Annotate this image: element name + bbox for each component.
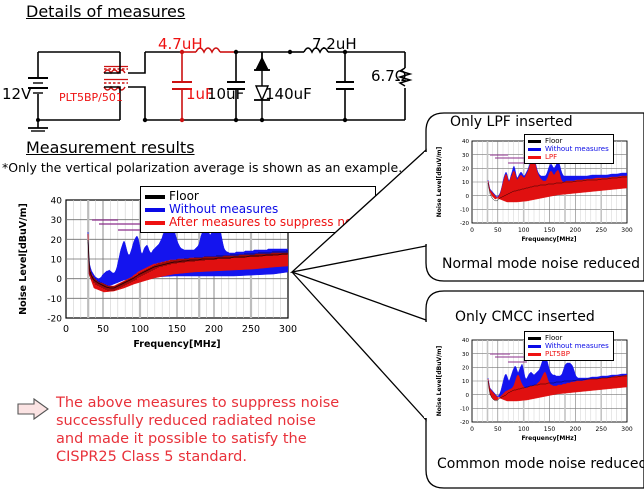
cmcc-chart-ylabel: Noise Level[dBuV/m] (436, 345, 443, 416)
conclusion-text: The above measures to suppress noise suc… (56, 394, 346, 466)
legend-label-cmcc-pltsbp: PLT5BP (545, 350, 570, 358)
svg-text:-20: -20 (460, 221, 469, 227)
svg-text:250: 250 (595, 426, 607, 433)
svg-text:20: 20 (462, 167, 469, 173)
svg-text:50: 50 (494, 426, 502, 433)
svg-text:10: 10 (462, 180, 469, 186)
legend-swatch-lpf-without-measures (528, 148, 541, 151)
svg-text:200: 200 (570, 426, 582, 433)
svg-text:0: 0 (470, 426, 474, 433)
svg-text:150: 150 (544, 426, 556, 433)
svg-text:40: 40 (462, 338, 469, 344)
callout-caption-cmcc: Common mode noise reduced (437, 456, 644, 472)
callout-title-cmcc: Only CMCC inserted (455, 309, 595, 325)
svg-text:30: 30 (462, 153, 469, 159)
svg-text:0: 0 (470, 227, 474, 234)
svg-text:100: 100 (518, 426, 530, 433)
cmcc-chart-legend: Floor Without measures PLT5BP (524, 331, 614, 361)
cmcc-chart-xlabel: Frequency[MHz] (521, 435, 576, 442)
svg-text:200: 200 (570, 227, 582, 234)
callout-title-lpf: Only LPF inserted (450, 114, 573, 130)
callout-caption-lpf: Normal mode noise reduced (442, 256, 640, 272)
legend-label-lpf-without-measures: Without measures (545, 145, 609, 153)
legend-label-lpf-floor: Floor (545, 137, 562, 145)
legend-item-cmcc-without-measures: Without measures (528, 342, 609, 350)
svg-text:300: 300 (621, 227, 633, 234)
svg-text:20: 20 (462, 366, 469, 372)
legend-item-lpf-floor: Floor (528, 137, 609, 145)
svg-text:50: 50 (494, 227, 502, 234)
legend-item-lpf-lpf: LPF (528, 153, 609, 161)
lpf-chart-ylabel: Noise Level[dBuV/m] (436, 146, 443, 217)
svg-text:30: 30 (462, 352, 469, 358)
legend-swatch-cmcc-pltsbp (528, 353, 541, 356)
svg-text:10: 10 (462, 379, 469, 385)
svg-text:250: 250 (595, 227, 607, 234)
callout-tail-lpf (292, 150, 426, 272)
svg-text:-20: -20 (460, 420, 469, 426)
legend-swatch-lpf-lpf (528, 156, 541, 159)
svg-text:300: 300 (621, 426, 633, 433)
conclusion-arrow-icon (16, 398, 50, 420)
legend-swatch-cmcc-floor (528, 337, 541, 340)
legend-swatch-lpf-floor (528, 140, 541, 143)
legend-item-cmcc-floor: Floor (528, 334, 609, 342)
lpf-chart-legend: Floor Without measures LPF (524, 134, 614, 164)
legend-item-cmcc-pltsbp: PLT5BP (528, 350, 609, 358)
svg-text:-10: -10 (460, 407, 469, 413)
svg-text:-10: -10 (460, 208, 469, 214)
svg-text:100: 100 (518, 227, 530, 234)
svg-text:40: 40 (462, 139, 469, 145)
svg-text:0: 0 (466, 194, 470, 200)
svg-text:0: 0 (466, 393, 470, 399)
legend-label-cmcc-without-measures: Without measures (545, 342, 609, 350)
legend-item-lpf-without-measures: Without measures (528, 145, 609, 153)
legend-swatch-cmcc-without-measures (528, 345, 541, 348)
svg-text:150: 150 (544, 227, 556, 234)
lpf-chart-xlabel: Frequency[MHz] (521, 236, 576, 243)
legend-label-cmcc-floor: Floor (545, 334, 562, 342)
legend-label-lpf-lpf: LPF (545, 153, 557, 161)
